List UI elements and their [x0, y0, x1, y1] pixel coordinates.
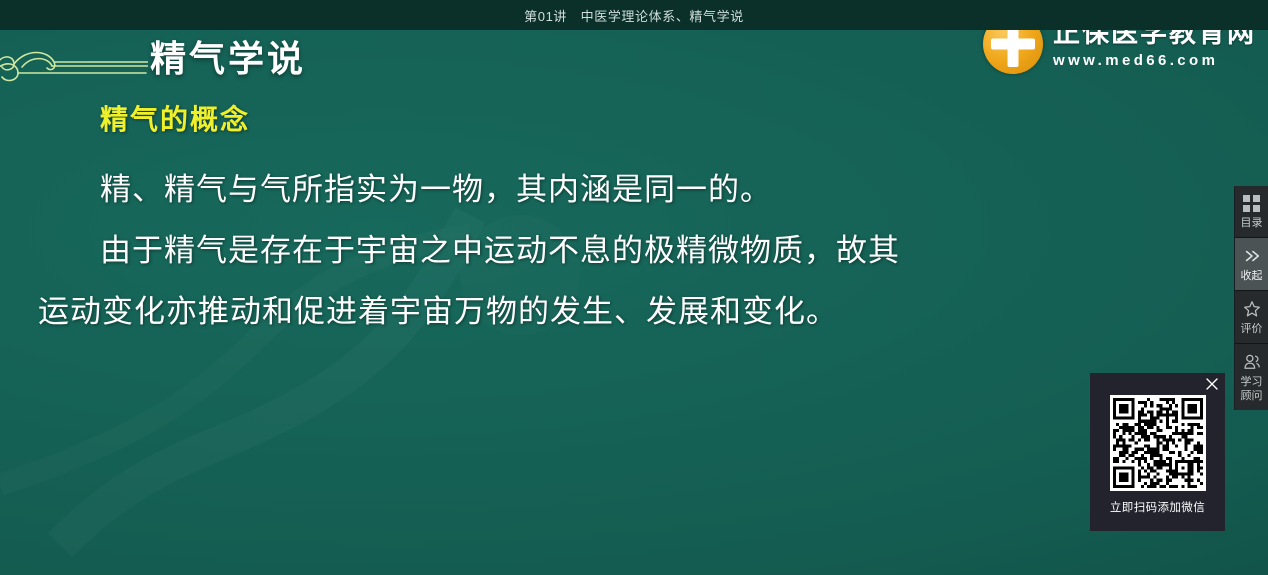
body-paragraph-2: 由于精气是存在于宇宙之中运动不息的极精微物质，故其: [100, 225, 1000, 270]
qr-caption: 立即扫码添加微信: [1110, 499, 1205, 515]
section-heading: 精气的概念: [100, 98, 1000, 138]
users-icon: [1243, 353, 1261, 371]
tool-rail: 目录 收起 评价 学习 顾问: [1234, 186, 1268, 410]
wechat-qr-popup: 立即扫码添加微信: [1090, 373, 1225, 531]
rail-item-advisor[interactable]: 学习 顾问: [1235, 344, 1268, 410]
rail-item-catalog-label: 目录: [1241, 216, 1263, 230]
star-icon: [1243, 300, 1261, 318]
rail-item-advisor-label-2: 顾问: [1241, 389, 1263, 403]
slide-canvas: 精气学说 精气的概念 精、精气与气所指实为一物，其内涵是同一的。 由于精气是存在…: [0, 0, 1268, 575]
body-paragraph-3: 运动变化亦推动和促进着宇宙万物的发生、发展和变化。: [38, 286, 1000, 331]
grid-icon: [1243, 195, 1260, 212]
close-icon[interactable]: [1205, 377, 1219, 391]
chevron-double-right-icon: [1243, 247, 1261, 265]
qr-code-icon[interactable]: [1110, 395, 1206, 491]
rail-item-rating[interactable]: 评价: [1235, 291, 1268, 344]
rail-item-rating-label: 评价: [1241, 322, 1263, 336]
slide-title-row: 精气学说: [0, 32, 560, 86]
cloud-scroll-ornament-icon: [0, 34, 148, 84]
header-bar: 第01讲 中医学理论体系、精气学说: [0, 0, 1268, 30]
rail-item-catalog[interactable]: 目录: [1235, 186, 1268, 238]
rail-item-advisor-label-1: 学习: [1241, 375, 1263, 389]
body-paragraph-1: 精、精气与气所指实为一物，其内涵是同一的。: [100, 164, 1000, 209]
rail-item-collapse-label: 收起: [1241, 269, 1263, 283]
slide-content: 精气的概念 精、精气与气所指实为一物，其内涵是同一的。 由于精气是存在于宇宙之中…: [0, 98, 1000, 331]
lecture-title: 第01讲 中医学理论体系、精气学说: [524, 6, 744, 25]
rail-item-collapse[interactable]: 收起: [1235, 238, 1268, 291]
brand-url: www.med66.com: [1053, 53, 1256, 68]
page-title: 精气学说: [150, 30, 306, 82]
